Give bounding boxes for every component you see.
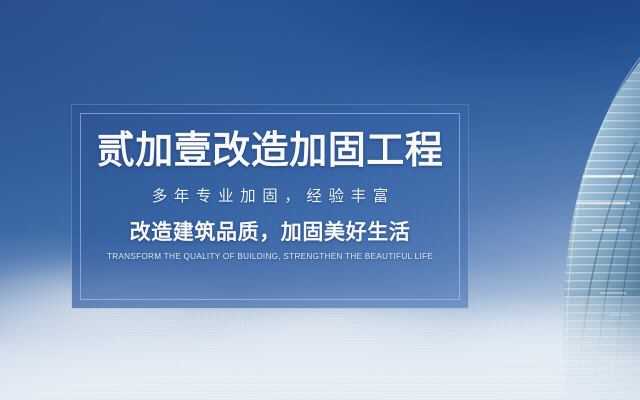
- text-overlay-panel: 贰加壹改造加固工程 多年专业加固，经验丰富 改造建筑品质，加固美好生活 TRAN…: [72, 105, 468, 308]
- horizon-haze: [0, 296, 640, 400]
- headline: 贰加壹改造加固工程: [97, 132, 444, 170]
- subheadline: 多年专业加固，经验丰富: [145, 189, 395, 205]
- panel-content: 贰加壹改造加固工程 多年专业加固，经验丰富 改造建筑品质，加固美好生活 TRAN…: [72, 105, 468, 308]
- banner-image: 贰加壹改造加固工程 多年专业加固，经验丰富 改造建筑品质，加固美好生活 TRAN…: [0, 0, 640, 400]
- tagline-english: TRANSFORM THE QUALITY OF BUILDING, STREN…: [107, 253, 433, 261]
- tagline-chinese: 改造建筑品质，加固美好生活: [130, 222, 411, 243]
